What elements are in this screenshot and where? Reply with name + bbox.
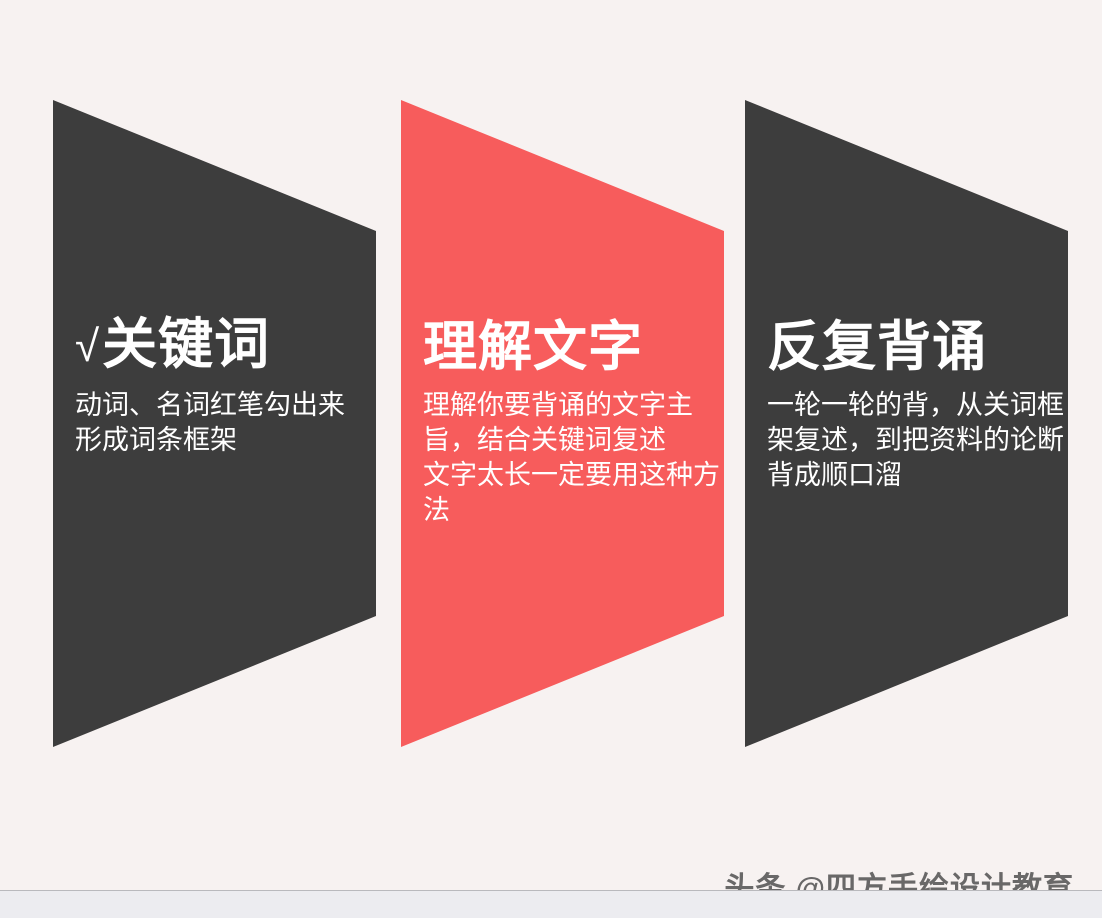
panel-repeat-recite-title: 反复背诵 <box>767 316 1067 378</box>
check-icon: √ <box>75 322 100 371</box>
panel-keywords-body-line-2: 形成词条框架 <box>75 423 375 458</box>
panel-keywords-body: 动词、名词红笔勾出来 形成词条框架 <box>75 388 375 458</box>
panel-keywords-title-text: 关键词 <box>102 314 270 375</box>
panel-repeat-recite-content: 反复背诵 一轮一轮的背，从关词框架复述，到把资料的论断背成顺口溜 <box>767 316 1067 493</box>
panel-repeat-recite-body: 一轮一轮的背，从关词框架复述，到把资料的论断背成顺口溜 <box>767 388 1067 493</box>
panel-understand-text-body: 理解你要背诵的文字主旨，结合关键词复述 文字太长一定要用这种方法 <box>423 388 723 528</box>
panel-understand-text-body-line-2: 文字太长一定要用这种方法 <box>423 458 723 528</box>
panel-repeat-recite[interactable]: 反复背诵 一轮一轮的背，从关词框架复述，到把资料的论断背成顺口溜 <box>745 0 1075 850</box>
panel-understand-text-content: 理解文字 理解你要背诵的文字主旨，结合关键词复述 文字太长一定要用这种方法 <box>423 316 723 528</box>
footer-divider-band <box>0 890 1102 918</box>
panel-keywords-content: √关键词 动词、名词红笔勾出来 形成词条框架 <box>75 314 375 458</box>
panel-keywords-body-line-1: 动词、名词红笔勾出来 <box>75 388 375 423</box>
panel-understand-text-title: 理解文字 <box>423 316 723 378</box>
slide-canvas: √关键词 动词、名词红笔勾出来 形成词条框架 理解文字 理解你要背诵的文字主旨，… <box>0 0 1102 918</box>
panel-keywords-title: √关键词 <box>75 314 375 378</box>
panel-understand-text[interactable]: 理解文字 理解你要背诵的文字主旨，结合关键词复述 文字太长一定要用这种方法 <box>401 0 731 850</box>
panel-repeat-recite-body-line-1: 一轮一轮的背，从关词框架复述，到把资料的论断背成顺口溜 <box>767 388 1067 493</box>
panel-understand-text-body-line-1: 理解你要背诵的文字主旨，结合关键词复述 <box>423 388 723 458</box>
panel-keywords[interactable]: √关键词 动词、名词红笔勾出来 形成词条框架 <box>53 0 383 850</box>
